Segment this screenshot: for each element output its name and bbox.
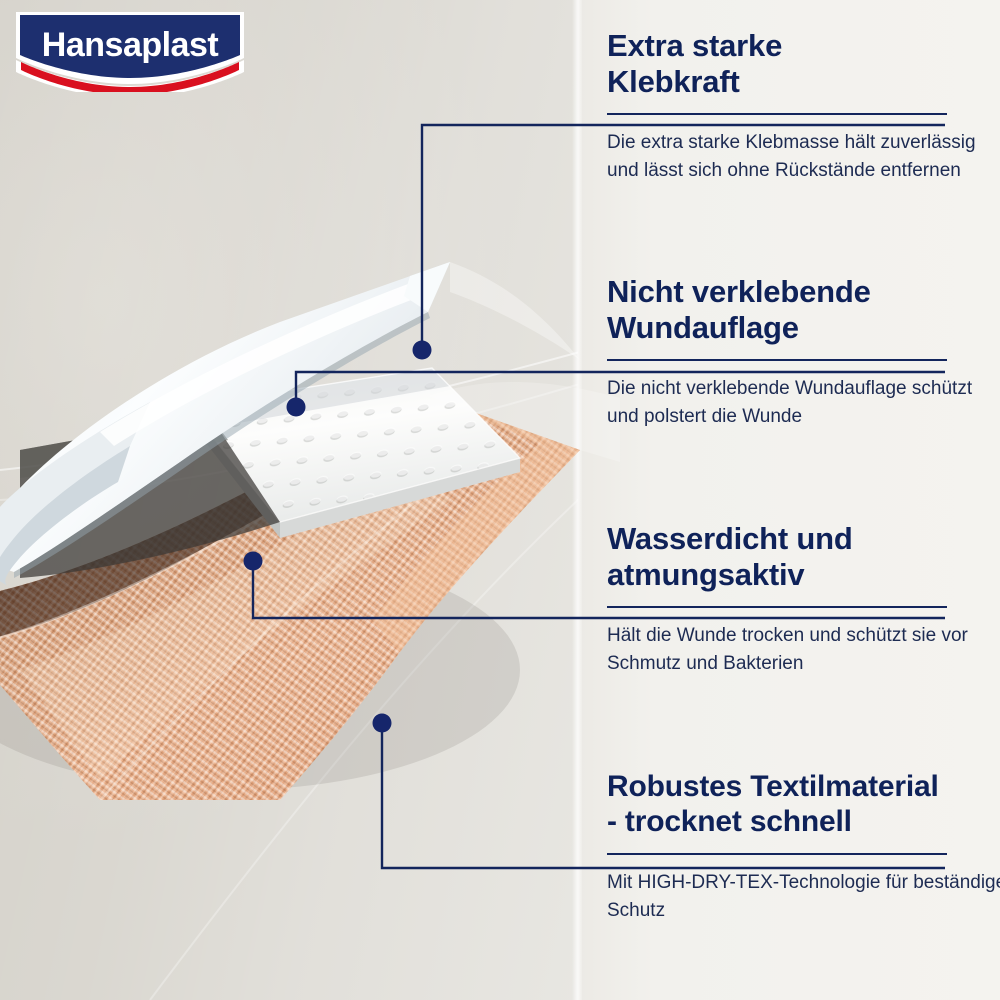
logo-wordmark: Hansaplast — [42, 26, 219, 64]
feature-divider-2 — [607, 359, 947, 361]
feature-block-non-adherent-wound-pad: Nicht verklebende Wundauflage Die nicht … — [607, 274, 1000, 430]
feature-heading-1-line1: Extra starke — [607, 28, 782, 63]
feature-block-robust-textile: Robustes Textilmaterial - trocknet schne… — [607, 770, 1000, 924]
feature-body-1: Die extra starke Klebmasse hält zuverläs… — [607, 129, 1000, 184]
feature-heading-2: Nicht verklebende Wundauflage — [607, 274, 1000, 345]
feature-heading-4-line2: - trocknet schnell — [607, 805, 852, 838]
feature-divider-4 — [607, 853, 947, 855]
plaster-product-image — [0, 200, 620, 800]
feature-heading-1-line2: Klebkraft — [607, 64, 740, 99]
feature-heading-1: Extra starke Klebkraft — [607, 28, 1000, 99]
feature-body-2: Die nicht verklebende Wundauflage schütz… — [607, 375, 1000, 430]
feature-heading-4: Robustes Textilmaterial - trocknet schne… — [607, 770, 1000, 839]
feature-heading-4-line1: Robustes Textilmaterial — [607, 770, 939, 803]
feature-divider-3 — [607, 606, 947, 608]
feature-heading-3-line1: Wasserdicht und — [607, 521, 853, 556]
infographic-canvas: Hansaplast — [0, 0, 1000, 1000]
feature-block-extra-strong-adhesion: Extra starke Klebkraft Die extra starke … — [607, 28, 1000, 184]
feature-heading-2-line1: Nicht verklebende — [607, 274, 871, 309]
feature-heading-3: Wasserdicht und atmungsaktiv — [607, 521, 1000, 592]
feature-divider-1 — [607, 113, 947, 115]
feature-body-4: Mit HIGH-DRY-TEX-Technologie für beständ… — [607, 869, 1000, 924]
feature-heading-2-line2: Wundauflage — [607, 310, 799, 345]
feature-block-waterproof-breathable: Wasserdicht und atmungsaktiv Hält die Wu… — [607, 521, 1000, 677]
feature-heading-3-line2: atmungsaktiv — [607, 557, 804, 592]
feature-body-3: Hält die Wunde trocken und schützt sie v… — [607, 622, 1000, 677]
hansaplast-logo: Hansaplast — [10, 10, 250, 92]
